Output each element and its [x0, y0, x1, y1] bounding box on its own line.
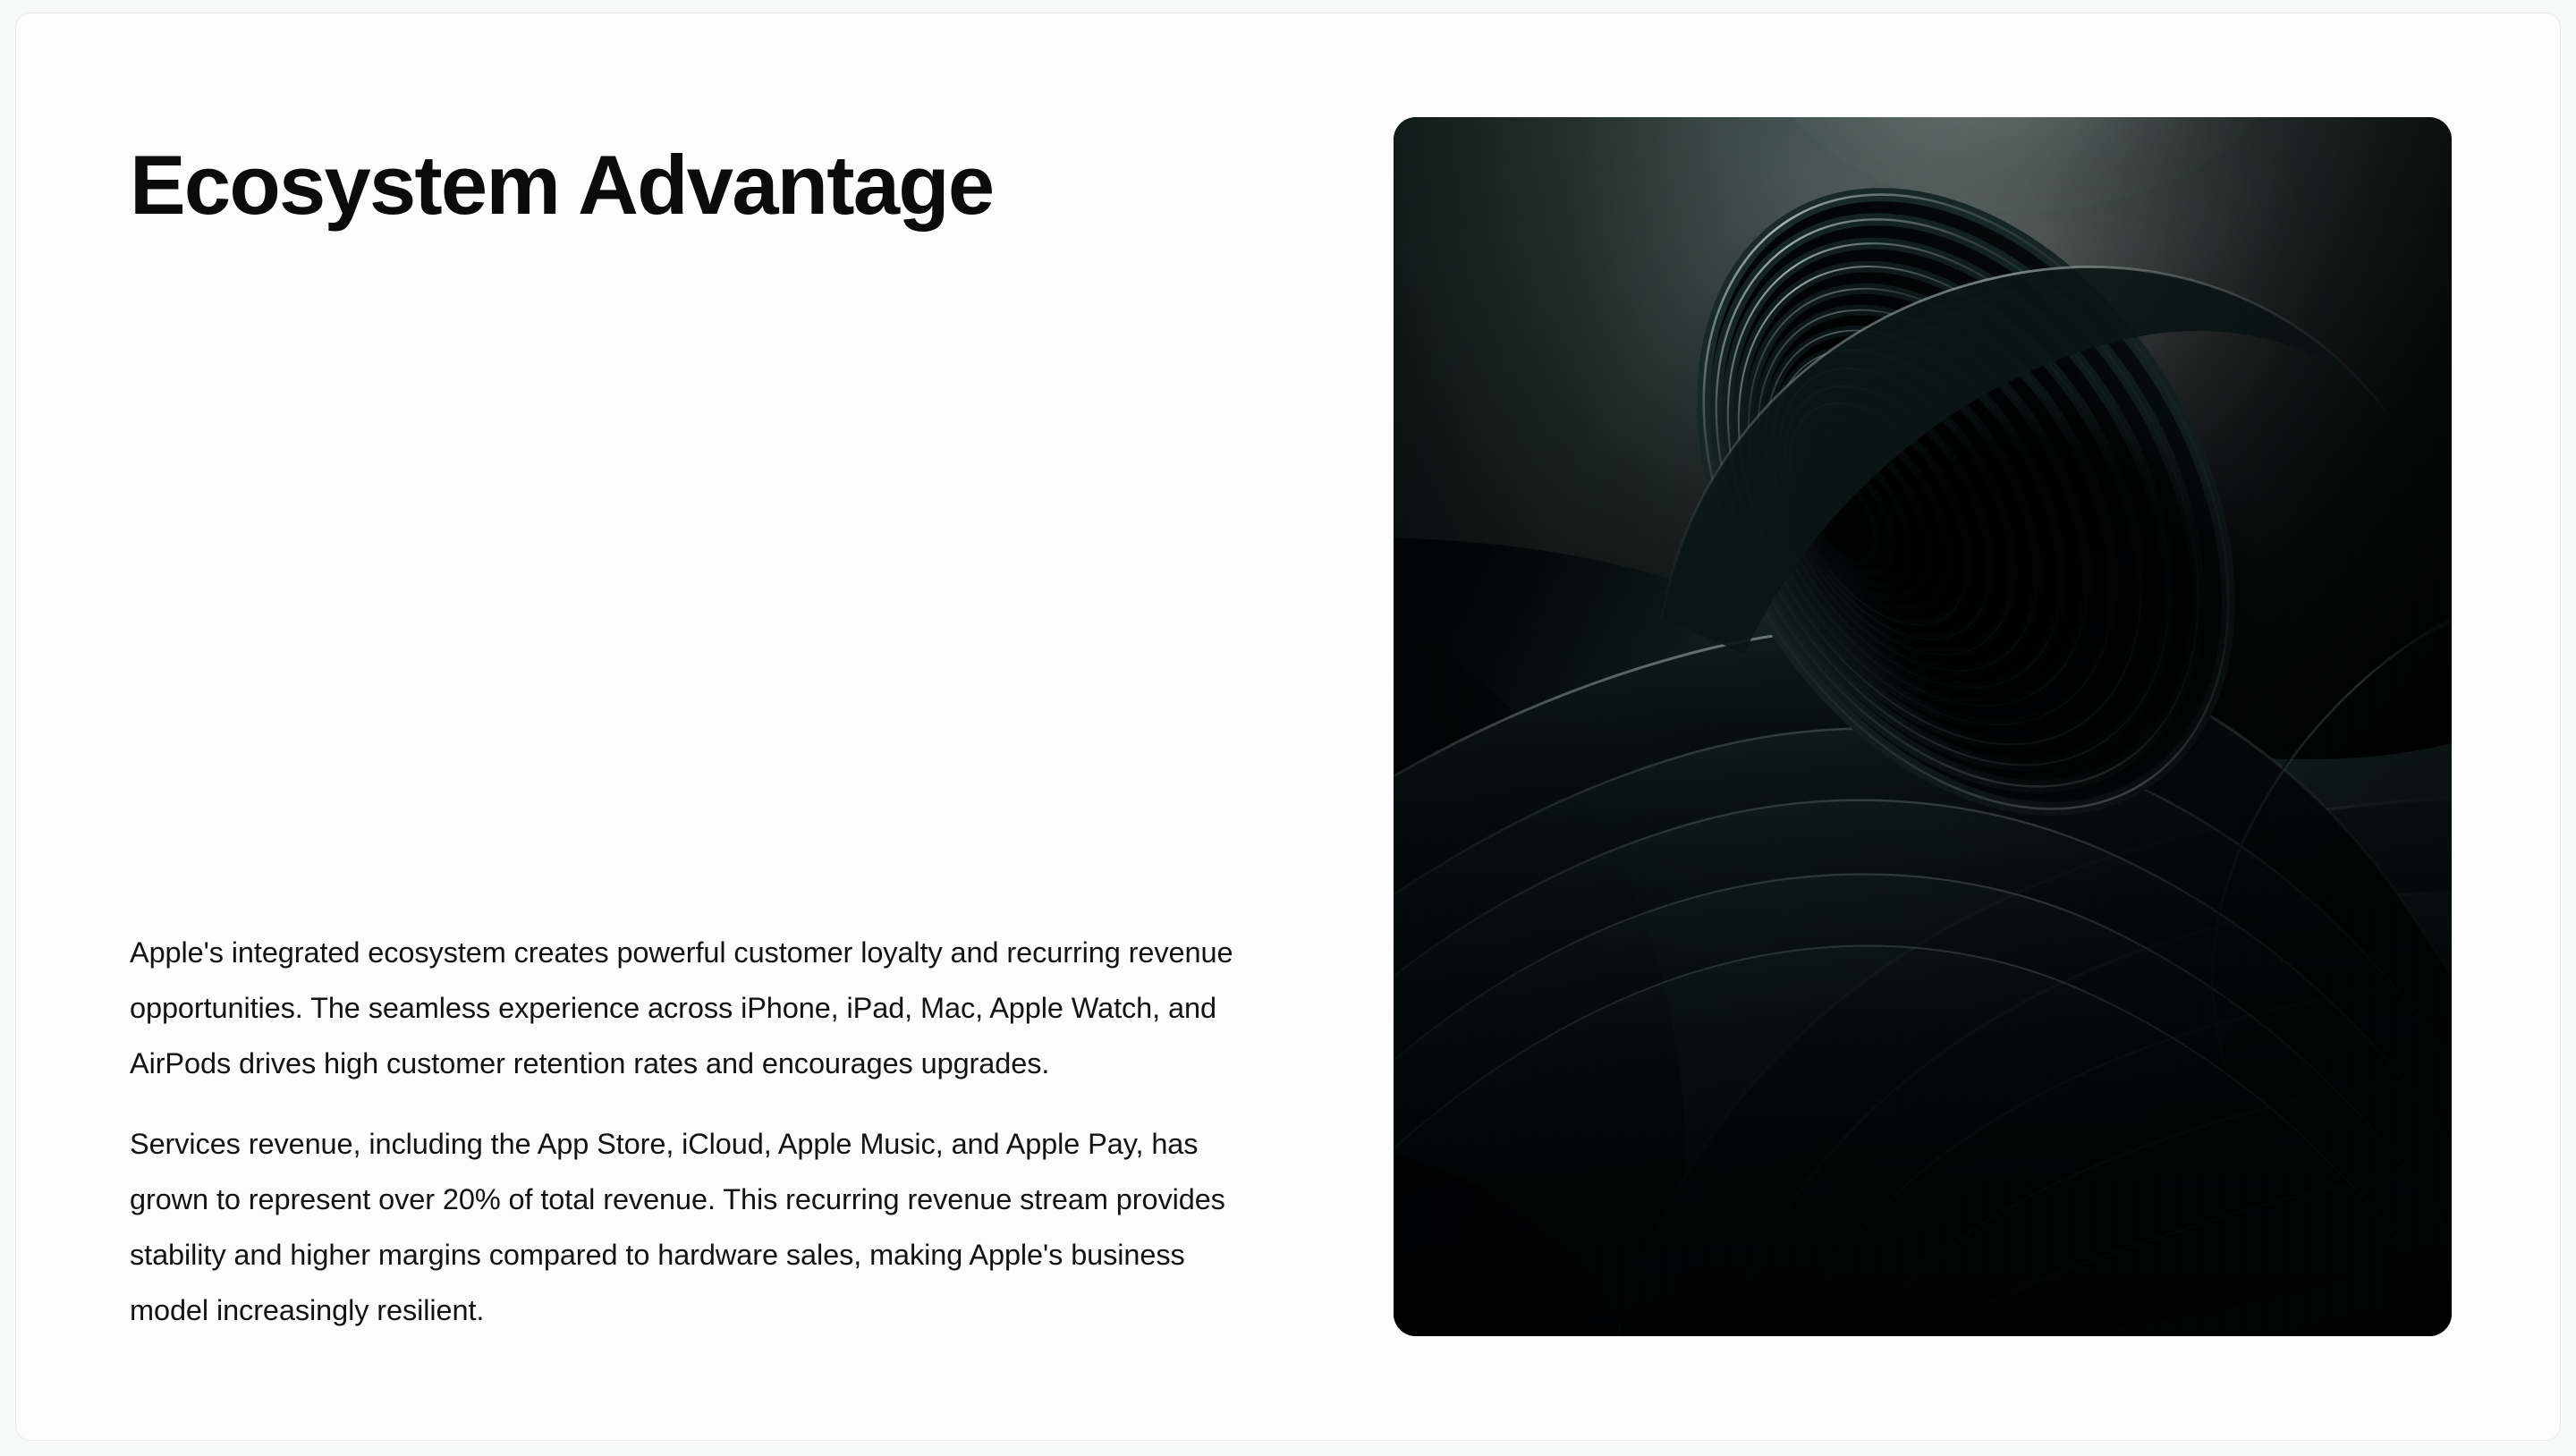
page-title: Ecosystem Advantage — [130, 140, 1284, 231]
hero-image-panel — [1394, 117, 2452, 1336]
paragraph-services-revenue: Services revenue, including the App Stor… — [130, 1116, 1267, 1338]
content-card: Ecosystem Advantage Apple's integrated e… — [15, 13, 2561, 1441]
text-column: Ecosystem Advantage Apple's integrated e… — [130, 140, 1284, 1338]
card-inner: Ecosystem Advantage Apple's integrated e… — [16, 13, 2560, 1440]
abstract-ribbon-spiral-image — [1394, 117, 2452, 1336]
paragraph-ecosystem-loyalty: Apple's integrated ecosystem creates pow… — [130, 925, 1267, 1091]
body-text-block: Apple's integrated ecosystem creates pow… — [130, 925, 1267, 1338]
